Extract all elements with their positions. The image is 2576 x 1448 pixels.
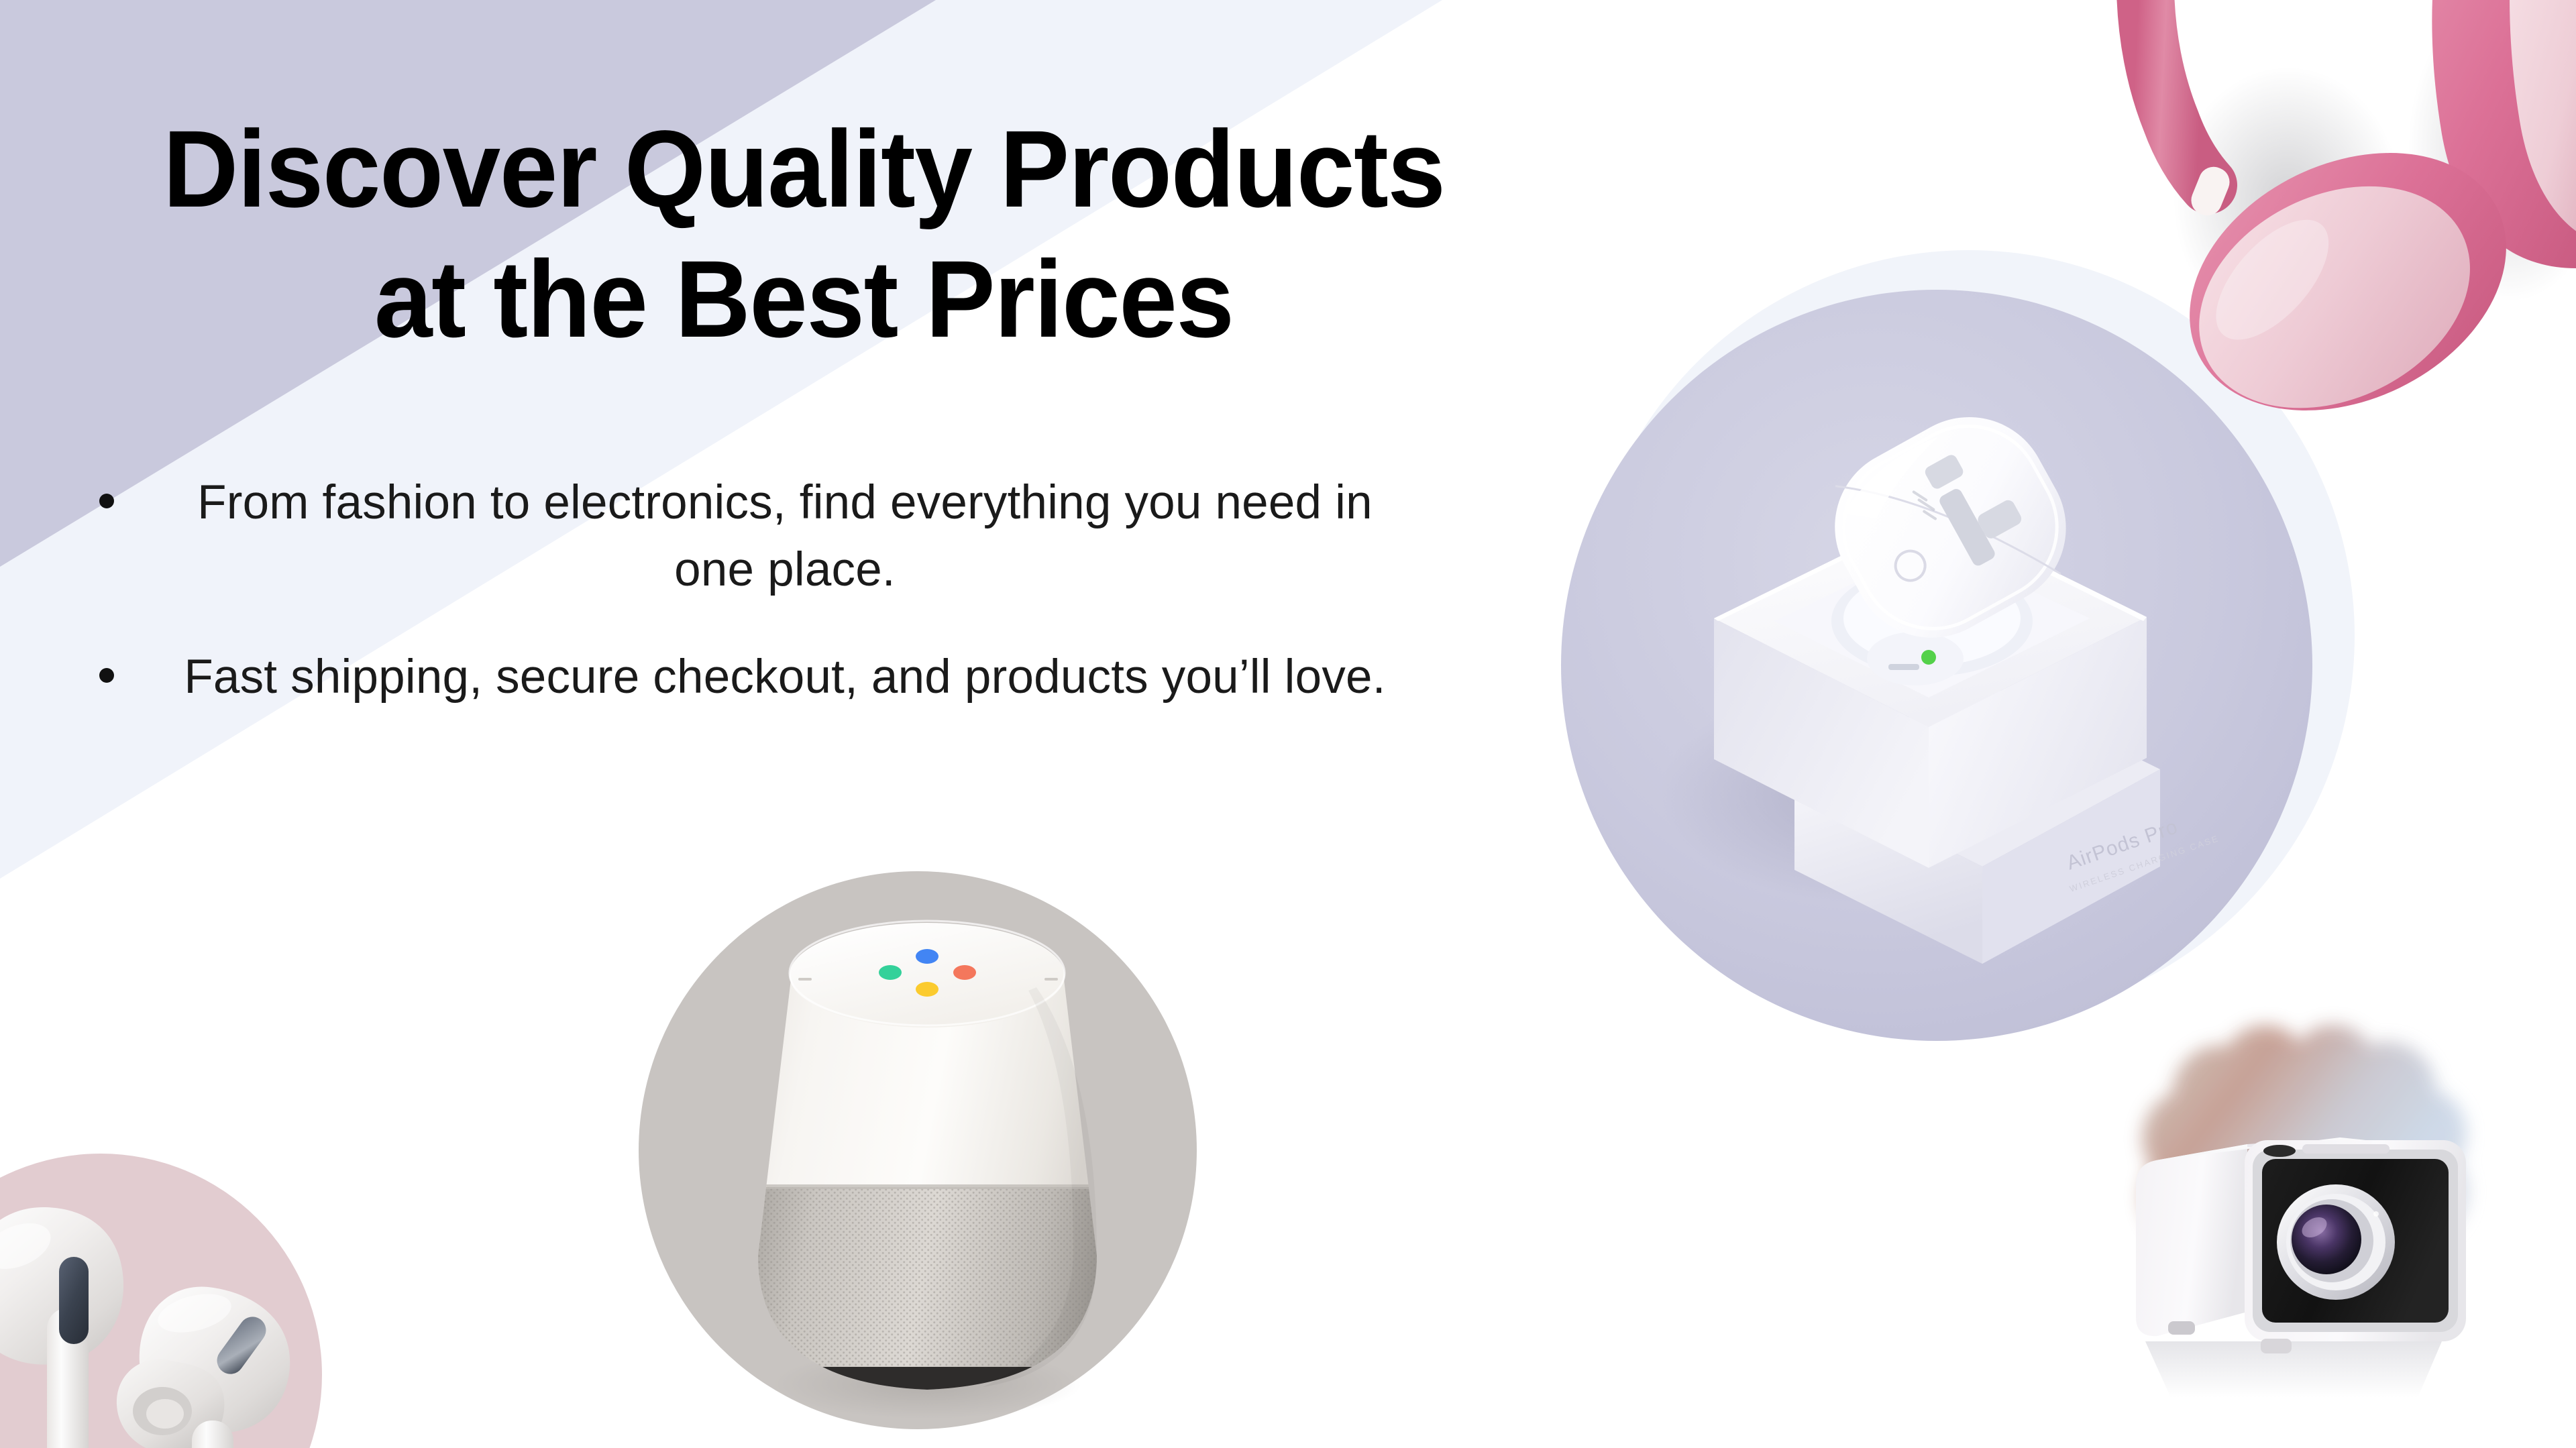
product-airpods-earbuds [0,1087,389,1448]
bullet-dot-icon [99,494,114,508]
projector-foot-front [2261,1339,2292,1353]
projector-body [2136,1137,2466,1353]
google-home-illustration [634,853,1218,1448]
slide-canvas: AirPods Pro WIRELESS CHARGING CASE [0,0,2576,1448]
product-google-home-speaker [634,853,1218,1448]
airpods-charge-indicator-well [1867,632,1964,685]
projector-illustration [2066,1006,2502,1422]
airpods-charge-led [1921,650,1936,665]
bullet-dot-icon [99,668,114,683]
product-pink-headphones [1999,0,2576,476]
projector-foot-back [2168,1321,2195,1335]
led-red-dot [953,965,976,980]
list-item: From fashion to electronics, find everyt… [67,469,1456,604]
led-yellow-dot [916,982,938,997]
feature-bullet-list: From fashion to electronics, find everyt… [67,469,1456,751]
page-title: Discover Quality Products at the Best Pr… [67,104,1541,364]
projector-lens-glass [2292,1205,2361,1274]
headphones-illustration [1999,0,2576,476]
projector-lens [2277,1184,2395,1300]
projector-surface-reflection [2145,1341,2442,1398]
list-item: Fast shipping, secure checkout, and prod… [67,644,1456,711]
headphones-headband [2145,0,2208,185]
page-title-line-1: Discover Quality Products [67,104,1541,234]
projector-vent-slot [2302,1144,2390,1154]
bullet-text: From fashion to electronics, find everyt… [174,469,1395,604]
earbud-left-sensor [59,1257,89,1344]
bullet-text: Fast shipping, secure checkout, and prod… [174,644,1395,711]
projector-control-button [2263,1145,2296,1157]
product-mini-projector [2066,1006,2502,1422]
led-green-dot [879,965,902,980]
led-blue-dot [916,949,938,964]
google-home-top-surface [790,923,1065,1027]
page-title-line-2: at the Best Prices [67,234,1541,364]
earbuds-illustration [0,1087,389,1448]
